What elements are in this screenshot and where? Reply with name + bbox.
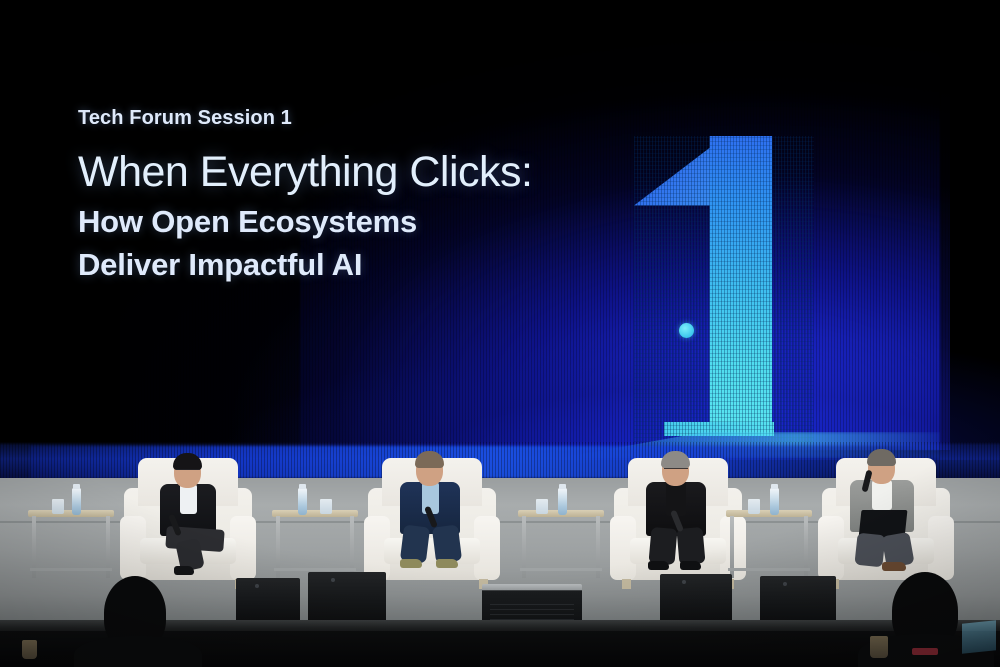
panelist-3-shoe-right xyxy=(680,561,701,570)
panelist-2-leg-right xyxy=(432,525,462,564)
slide-subline-2: Deliver Impactful AI xyxy=(78,247,638,284)
side-table-rail xyxy=(728,568,810,571)
side-table-rail xyxy=(274,568,356,571)
panelist-2-leg-left xyxy=(400,525,430,564)
av-rack-face xyxy=(490,600,574,620)
audience-shoulder-left xyxy=(74,636,202,667)
stage-monitor-4 xyxy=(760,576,836,626)
side-table-rail xyxy=(520,568,602,571)
panelist-3-shoe-left xyxy=(648,561,669,570)
coffee-cup xyxy=(870,636,888,658)
panelist-3-glasses xyxy=(664,468,688,474)
panelist-1-shirt xyxy=(180,484,197,514)
panelist-2-hair xyxy=(415,451,444,468)
side-table-top xyxy=(28,510,114,517)
side-table-1 xyxy=(28,510,114,580)
panelist-3-leg-right xyxy=(676,527,705,565)
stage-numeral-one xyxy=(634,136,814,454)
stage-monitor-2 xyxy=(308,572,386,626)
drinking-glass xyxy=(52,499,64,514)
water-bottle xyxy=(558,488,567,515)
drinking-glass xyxy=(536,499,548,514)
panelist-4-shoe xyxy=(882,562,906,571)
panelist-2 xyxy=(378,456,490,568)
panelist-1-shoe xyxy=(174,566,194,575)
panelist-4-hair xyxy=(867,449,896,466)
armchair-leg xyxy=(622,579,631,589)
panelist-1-hair xyxy=(173,453,202,470)
panelist-4-leg-left xyxy=(854,533,885,568)
panelist-3-leg-left xyxy=(648,527,677,565)
stage-monitor-1 xyxy=(236,578,300,626)
water-bottle xyxy=(298,488,307,515)
panelist-3 xyxy=(624,456,736,568)
panelist-2-sneaker-left xyxy=(400,559,422,568)
side-table-rail xyxy=(30,568,112,571)
side-table-top xyxy=(272,510,358,517)
audience-laptop-screen xyxy=(962,620,996,654)
drinking-glass xyxy=(748,499,760,514)
side-table-3 xyxy=(518,510,604,580)
slide-headline: When Everything Clicks: xyxy=(78,150,638,196)
water-bottle xyxy=(770,488,779,515)
coffee-cup xyxy=(22,640,37,659)
side-table-2 xyxy=(272,510,358,580)
panelist-4-shirt xyxy=(872,480,892,510)
water-bottle xyxy=(72,488,81,515)
side-table-4 xyxy=(726,510,812,580)
stage-monitor-3 xyxy=(660,574,732,626)
seat-group-4 xyxy=(726,470,946,580)
drinking-glass xyxy=(320,499,332,514)
panelist-3-hair xyxy=(661,451,690,468)
slide-text-block: Tech Forum Session 1 When Everything Cli… xyxy=(78,108,638,291)
panelist-1 xyxy=(136,456,246,568)
side-table-top xyxy=(726,510,812,517)
seat-group-2 xyxy=(272,470,492,580)
slide-subline-1: How Open Ecosystems xyxy=(78,204,638,241)
panelist-1-glasses xyxy=(176,469,200,475)
seat-group-3 xyxy=(518,470,738,580)
cyan-dot-accent xyxy=(679,323,694,338)
numeral-one-flag xyxy=(634,146,712,208)
session-eyebrow: Tech Forum Session 1 xyxy=(78,108,638,128)
panelist-2-sneaker-right xyxy=(436,559,458,568)
conference-stage-photo: Tech Forum Session 1 When Everything Cli… xyxy=(0,0,1000,667)
audience-lanyard xyxy=(912,648,938,655)
panelist-4 xyxy=(830,456,944,568)
seat-group-1 xyxy=(28,470,248,580)
